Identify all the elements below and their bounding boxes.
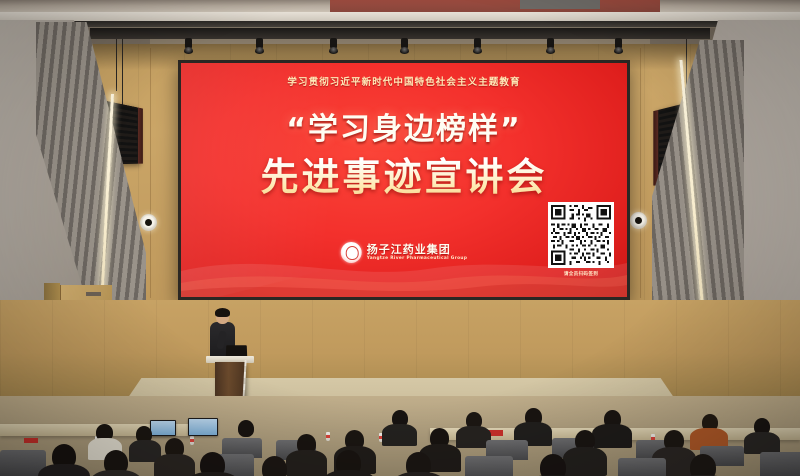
- screen-surface: 学习贯彻习近平新时代中国特色社会主义主题教育 “学习身边榜样” 先进事迹宣讲会 …: [181, 63, 627, 297]
- audience-body: [744, 432, 780, 454]
- audience-laptop: [188, 418, 218, 436]
- auditorium-photo: 学习贯彻习近平新时代中国特色社会主义主题教育 “学习身边榜样” 先进事迹宣讲会 …: [0, 0, 800, 476]
- audience-head: [262, 456, 287, 476]
- audience-head: [690, 454, 716, 476]
- presenter-hair: [215, 308, 230, 317]
- audience-body: [38, 464, 90, 476]
- screen-header-text: 学习贯彻习近平新时代中国特色社会主义主题教育: [181, 74, 627, 88]
- audience-body: [563, 447, 607, 476]
- ceiling-grey-vent: [520, 0, 600, 9]
- logo-name-cn: 扬子江药业集团: [367, 244, 468, 255]
- qr-caption: 请全员扫码签到: [548, 271, 614, 277]
- stage-spotlight-icon: [614, 38, 623, 54]
- circle-leaf-logo-icon: [341, 242, 362, 263]
- seat-back: [760, 452, 800, 476]
- water-bottle: [190, 436, 194, 445]
- audience-laptop: [150, 420, 176, 436]
- company-logo: 扬子江药业集团 Yangtze River Pharmaceutical Gro…: [341, 242, 468, 263]
- audience-body: [592, 424, 632, 448]
- ceiling-downlight-icon: [140, 214, 157, 231]
- wall-seam: [640, 48, 641, 298]
- water-bottle: [326, 432, 330, 441]
- qr-code-icon[interactable]: [548, 202, 614, 268]
- audience-body: [382, 424, 417, 446]
- screen-title-line-1: “学习身边榜样”: [181, 104, 627, 148]
- audience-body: [286, 450, 327, 476]
- screen-title-line-2: 先进事迹宣讲会: [181, 146, 627, 201]
- qr-signin-block[interactable]: 请全员扫码签到: [548, 202, 614, 277]
- audience-body: [154, 454, 195, 476]
- led-presentation-screen[interactable]: 学习贯彻习近平新时代中国特色社会主义主题教育 “学习身边榜样” 先进事迹宣讲会 …: [178, 60, 630, 300]
- desk-marker: [24, 438, 38, 443]
- stage-spotlight-icon: [255, 38, 264, 54]
- logo-name-en: Yangtze River Pharmaceutical Group: [367, 257, 468, 261]
- stage-spotlight-icon: [546, 38, 555, 54]
- wall-seam: [150, 48, 151, 298]
- stage-spotlight-icon: [473, 38, 482, 54]
- ceiling-downlight-icon: [630, 212, 647, 229]
- door-sign: [86, 292, 101, 296]
- seat-back: [465, 456, 513, 476]
- stage-spotlight-icon: [400, 38, 409, 54]
- audience-head: [540, 454, 566, 476]
- truss-cable: [122, 39, 123, 105]
- ceiling-red-panel: [330, 0, 660, 12]
- audience-head: [238, 420, 254, 437]
- stage-spotlight-icon: [329, 38, 338, 54]
- truss-cable: [116, 39, 117, 91]
- seat-back: [618, 458, 666, 476]
- stage-spotlight-icon: [184, 38, 193, 54]
